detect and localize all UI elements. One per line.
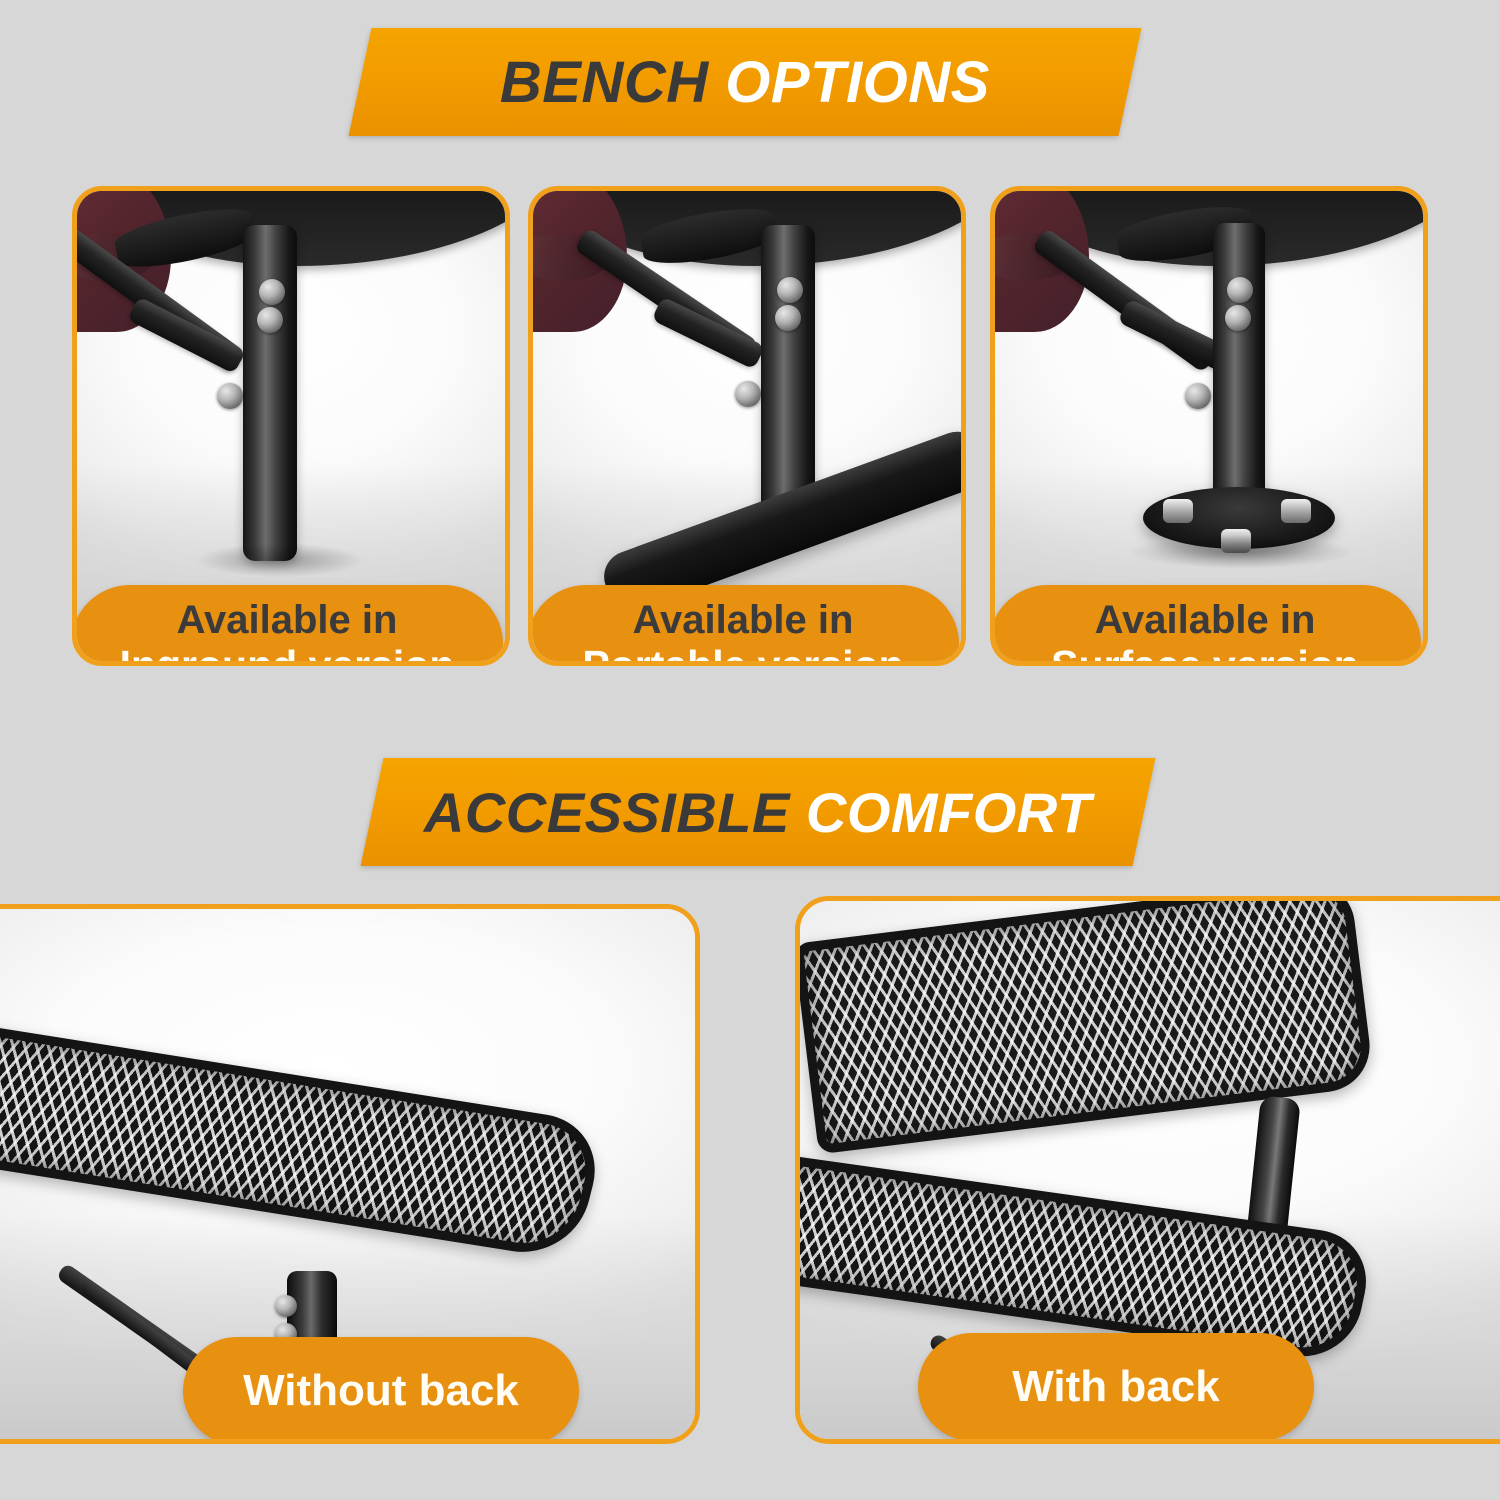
card-inground[interactable]: Available in Inground version xyxy=(72,186,510,666)
banner-word-secondary: COMFORT xyxy=(806,781,1092,844)
bolt-icon xyxy=(1225,305,1251,331)
label-pill-portable: Available in Portable version xyxy=(528,585,959,666)
bolt-icon xyxy=(259,279,285,305)
banner-word-primary: ACCESSIBLE xyxy=(424,781,790,844)
leg-post xyxy=(1213,223,1265,507)
ground-shadow xyxy=(1127,535,1355,569)
bolt-icon xyxy=(1227,277,1253,303)
label-pill-inground: Available in Inground version xyxy=(72,585,503,666)
leg-post xyxy=(243,225,297,561)
card-with-back[interactable]: With back xyxy=(795,896,1500,1444)
pill-line-2: Without back xyxy=(243,1366,519,1415)
bolt-icon xyxy=(777,277,803,303)
card-without-back[interactable]: Without back xyxy=(0,904,700,1444)
section-banner-bench-options: BENCH OPTIONS xyxy=(349,28,1142,136)
section-banner-accessible-comfort: ACCESSIBLE COMFORT xyxy=(361,758,1156,866)
pill-line-1: Available in xyxy=(177,599,398,642)
banner-text: ACCESSIBLE COMFORT xyxy=(424,780,1092,845)
pill-line-2: Inground version xyxy=(120,643,455,666)
bolt-icon xyxy=(735,381,761,407)
pill-line-1: Available in xyxy=(633,599,854,642)
ground-shadow xyxy=(195,543,365,577)
label-pill-surface: Available in Surface version xyxy=(990,585,1421,666)
banner-word-primary: BENCH xyxy=(500,50,709,115)
card-portable[interactable]: Available in Portable version xyxy=(528,186,966,666)
banner-text: BENCH OPTIONS xyxy=(500,49,990,116)
bolt-icon xyxy=(217,383,243,409)
pill-line-2: Portable version xyxy=(582,643,903,666)
diagonal-brace-lower xyxy=(127,296,246,374)
infographic-page: BENCH OPTIONS Available in Ingroun xyxy=(0,0,1500,1500)
bolt-icon xyxy=(775,305,801,331)
anchor-bolt-icon xyxy=(1163,499,1193,523)
pill-line-2: With back xyxy=(1012,1362,1219,1411)
pill-line-2: Surface version xyxy=(1051,643,1359,666)
label-pill-without-back: Without back xyxy=(183,1337,579,1444)
label-pill-with-back: With back xyxy=(918,1333,1314,1441)
card-surface[interactable]: Available in Surface version xyxy=(990,186,1428,666)
bolt-icon xyxy=(1185,383,1211,409)
banner-word-secondary: OPTIONS xyxy=(725,50,990,115)
bolt-icon xyxy=(275,1295,297,1317)
pill-line-1: Available in xyxy=(1095,599,1316,642)
anchor-bolt-icon xyxy=(1281,499,1311,523)
bolt-icon xyxy=(257,307,283,333)
